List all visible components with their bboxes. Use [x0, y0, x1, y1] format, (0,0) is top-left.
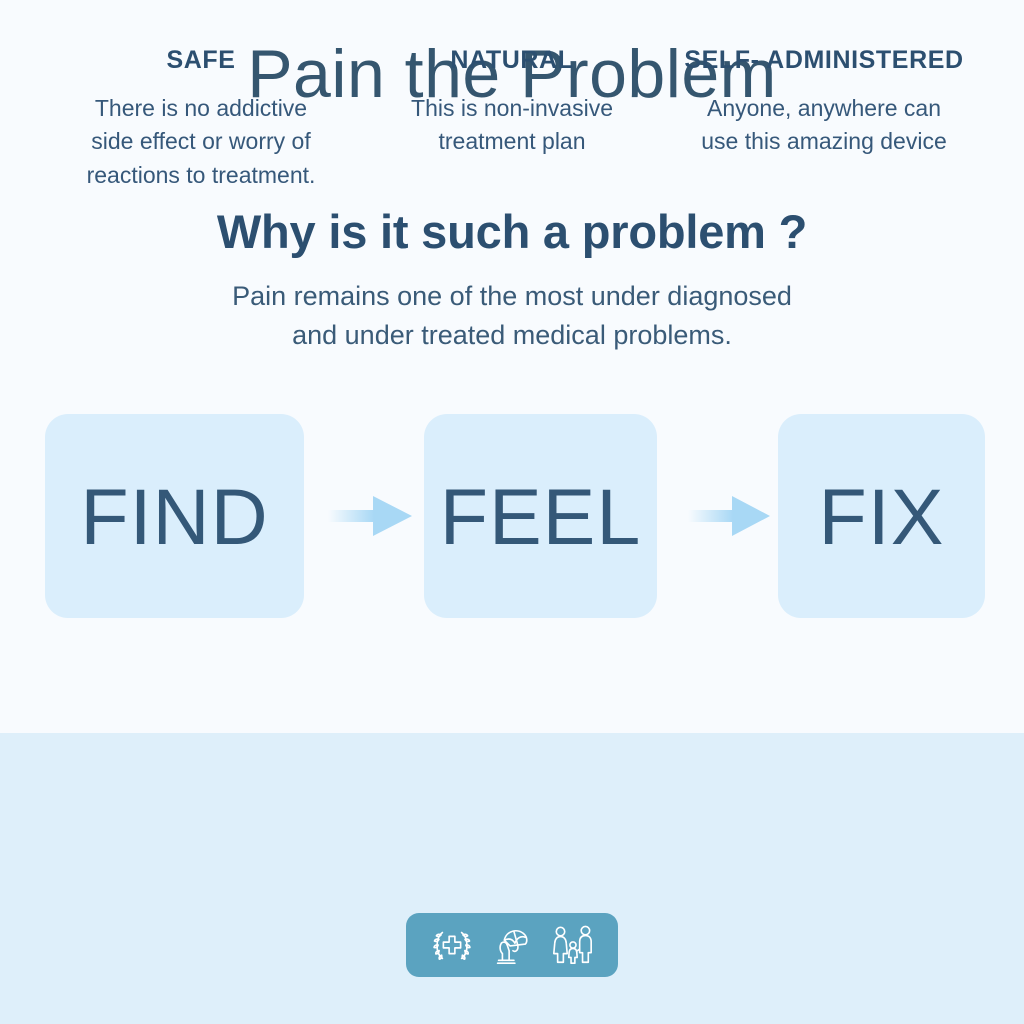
section-subtext-line-1: Pain remains one of the most under diagn…	[0, 277, 1024, 316]
benefit-self-administered-title: SELF- ADMINISTERED	[650, 45, 998, 75]
step-arrow-right-icon-2	[688, 492, 770, 540]
step-card-find[interactable]: FIND	[45, 414, 304, 618]
benefit-natural-body-line-1: This is non-invasive	[382, 92, 642, 125]
family-group-icon	[549, 922, 595, 968]
step-card-feel-label: FEEL	[440, 477, 642, 556]
benefit-self-administered: SELF- ADMINISTERED Anyone, anywhere can …	[650, 45, 998, 159]
benefit-natural-body: This is non-invasive treatment plan	[382, 92, 642, 159]
section-subtext-line-2: and under treated medical problems.	[0, 316, 1024, 355]
section-heading: Why is it such a problem ?	[0, 205, 1024, 259]
hand-holding-umbrella-icon	[489, 922, 535, 968]
step-card-feel[interactable]: FEEL	[424, 414, 657, 618]
benefit-safe-body: There is no addictive side effect or wor…	[62, 92, 340, 192]
step-card-fix[interactable]: FIX	[778, 414, 985, 618]
benefit-natural-title: NATURAL	[382, 45, 642, 75]
step-arrow-right-icon	[328, 492, 412, 540]
benefit-self-administered-body-line-2: use this amazing device	[650, 125, 998, 158]
step-card-find-label: FIND	[80, 477, 268, 556]
benefit-safe-title: SAFE	[62, 45, 340, 75]
section-subtext: Pain remains one of the most under diagn…	[0, 277, 1024, 355]
benefit-natural-body-line-2: treatment plan	[382, 125, 642, 158]
icon-badge	[406, 913, 618, 977]
benefit-safe-body-line-3: reactions to treatment.	[62, 159, 340, 192]
benefit-natural: NATURAL This is non-invasive treatment p…	[382, 45, 642, 159]
benefit-self-administered-body: Anyone, anywhere can use this amazing de…	[650, 92, 998, 159]
laurel-wreath-medical-cross-icon	[429, 922, 475, 968]
benefit-safe: SAFE There is no addictive side effect o…	[62, 45, 340, 192]
step-card-fix-label: FIX	[819, 477, 945, 556]
benefit-safe-body-line-1: There is no addictive	[62, 92, 340, 125]
benefit-self-administered-body-line-1: Anyone, anywhere can	[650, 92, 998, 125]
benefit-safe-body-line-2: side effect or worry of	[62, 125, 340, 158]
bottom-section	[0, 733, 1024, 1024]
poster-root: Pain the Problem Why is it such a proble…	[0, 0, 1024, 1024]
steps-row: FIND FEEL	[45, 414, 985, 619]
